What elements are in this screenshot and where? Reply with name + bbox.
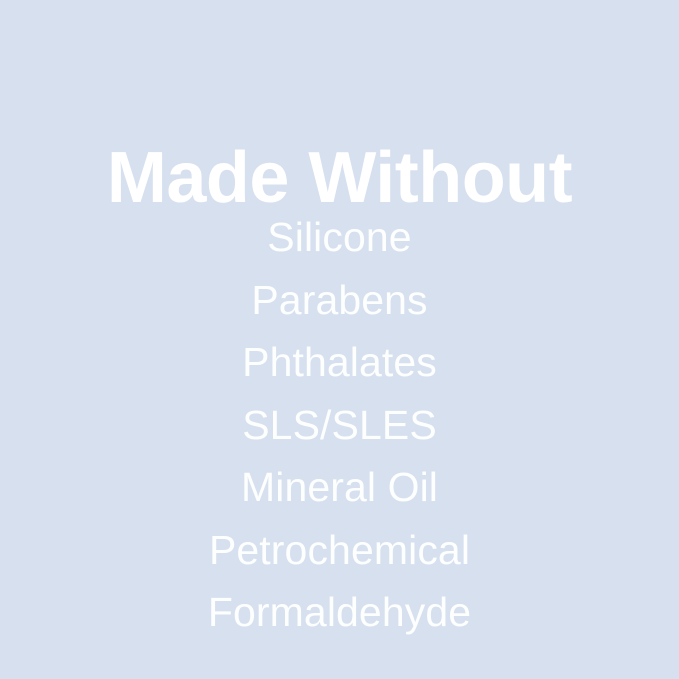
list-item: Mineral Oil	[0, 456, 679, 519]
page-title: Made Without	[0, 142, 679, 214]
made-without-panel: Made Without Silicone Parabens Phthalate…	[0, 0, 679, 679]
list-item: Silicone	[0, 206, 679, 269]
list-item: Phthalates	[0, 331, 679, 394]
list-item: Parabens	[0, 269, 679, 332]
exclusion-list: Silicone Parabens Phthalates SLS/SLES Mi…	[0, 206, 679, 644]
list-item: Petrochemical	[0, 519, 679, 582]
list-item: SLS/SLES	[0, 394, 679, 457]
list-item: Formaldehyde	[0, 581, 679, 644]
